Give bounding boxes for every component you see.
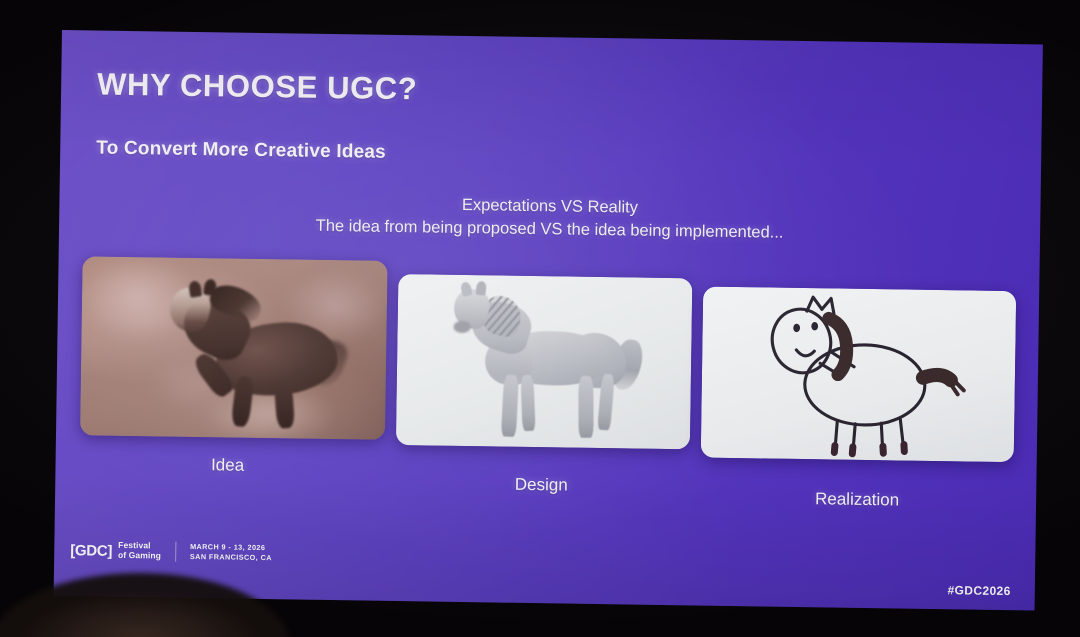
page-title: WHY CHOOSE UGC? — [97, 67, 418, 108]
image-card-idea — [80, 256, 388, 440]
gdc-footer-logo: [GDC] Festival of Gaming MARCH 9 - 13, 2… — [70, 540, 272, 563]
gdc-logo-mark: [GDC] Festival of Gaming — [70, 541, 161, 561]
event-location: SAN FRANCISCO, CA — [190, 552, 272, 562]
sketch-leg-front-1 — [501, 375, 519, 437]
event-hashtag: #GDC2026 — [947, 583, 1010, 598]
gdc-event-details: MARCH 9 - 13, 2026 SAN FRANCISCO, CA — [190, 542, 272, 563]
gdc-festival-text: Festival of Gaming — [118, 541, 161, 561]
slide-surface: WHY CHOOSE UGC? To Convert More Creative… — [54, 30, 1043, 610]
slide-subtitle: To Convert More Creative Ideas — [96, 138, 386, 164]
image-card-design — [396, 274, 693, 449]
caption-design: Design — [431, 474, 651, 497]
horse-sketch-image — [396, 274, 693, 449]
gdc-bracket-wordmark: [GDC] — [70, 543, 112, 559]
sketch-ear-left — [460, 281, 473, 297]
caption-realization: Realization — [747, 488, 967, 511]
doodle-tail — [923, 375, 951, 380]
doodle-drawing — [701, 287, 1017, 463]
sketch-muzzle — [453, 321, 471, 333]
horse-photo-image — [80, 256, 388, 440]
doodle-hooves — [834, 444, 904, 455]
horse-doodle-image — [701, 287, 1017, 463]
slide-body-text: Expectations VS Reality The idea from be… — [59, 188, 1041, 249]
sketch-leg-front-2 — [520, 375, 535, 432]
image-card-realization — [701, 287, 1017, 463]
event-dates: MARCH 9 - 13, 2026 — [190, 542, 265, 552]
conference-photo: WHY CHOOSE UGC? To Convert More Creative… — [0, 0, 1080, 637]
footer-divider — [175, 542, 176, 562]
sketch-leg-rear-1 — [579, 376, 594, 438]
doodle-eyes — [793, 322, 818, 333]
projected-slide: WHY CHOOSE UGC? To Convert More Creative… — [54, 30, 1043, 610]
caption-idea: Idea — [117, 454, 337, 477]
gdc-festival-line-2: of Gaming — [118, 550, 161, 561]
sketch-ear-right — [475, 281, 487, 296]
